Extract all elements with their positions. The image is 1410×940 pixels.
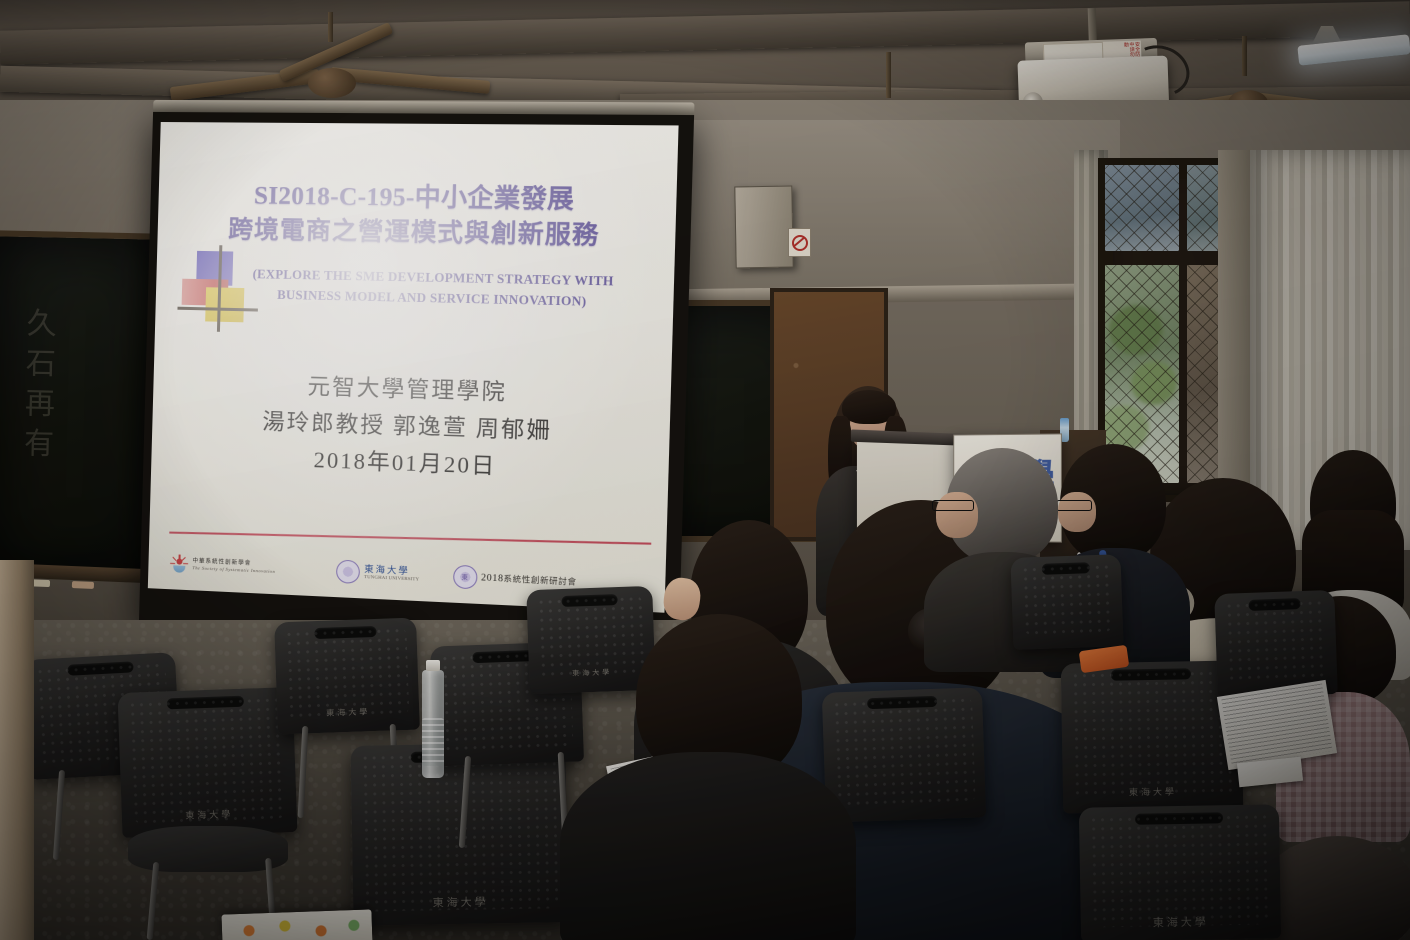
slide-surface: SI2018-C-195-中小企業發展 跨境電商之營運模式與創新服務 (EXPL… <box>148 122 679 613</box>
no-smoking-icon <box>788 228 811 257</box>
chair[interactable]: 東海大學 <box>1061 660 1244 813</box>
conference-seal-icon: 東 <box>452 564 477 589</box>
door-frame <box>0 560 34 940</box>
chair[interactable]: 東海大學 <box>274 618 420 735</box>
slide-title-line2: 跨境電商之營運模式與創新服務 <box>157 212 676 255</box>
chair[interactable] <box>1010 554 1123 650</box>
attendee-face <box>936 492 978 538</box>
chalk-writing: 久石再有 <box>13 307 60 468</box>
society-logo: 中華系統性創新學會 The Society of Systematic Inno… <box>170 554 275 577</box>
slide-divider <box>169 532 651 545</box>
university-name-en: TUNGHAI UNIVERSITY <box>364 574 419 582</box>
slide-body: 元智大學管理學院 湯玲郎教授 郭逸萱 周郁姍 2018年01月20日 <box>151 364 671 491</box>
university-seal-icon <box>336 559 360 583</box>
chair-seat <box>128 826 288 872</box>
chair[interactable]: 東海大學 <box>118 687 298 838</box>
chair-brand-text: 東海大學 <box>185 807 233 822</box>
slide-subtitle: (EXPLORE THE SME DEVELOPMENT STRATEGY WI… <box>214 263 655 313</box>
wall-speaker <box>734 186 793 269</box>
conference-year: 2018 <box>481 573 504 584</box>
chair-brand-text: 東海大學 <box>326 706 370 719</box>
bottle-cap <box>426 660 440 671</box>
lecture-hall-photo: 安全防護中請勿移動 久石再有 <box>0 0 1410 940</box>
projection-screen: SI2018-C-195-中小企業發展 跨境電商之營運模式與創新服務 (EXPL… <box>139 112 694 649</box>
chair-brand-text: 東海大學 <box>433 894 489 911</box>
conference-name: 系統性創新研討會 <box>503 574 576 587</box>
window-mesh <box>1105 165 1179 251</box>
attendee-torso <box>560 752 856 940</box>
polka-dot-item <box>221 909 372 940</box>
chair-brand-text: 東海大學 <box>1129 785 1177 799</box>
chair-brand-text: 東海大學 <box>1153 914 1209 931</box>
audience-member <box>548 614 848 940</box>
slide-title: SI2018-C-195-中小企業發展 跨境電商之營運模式與創新服務 <box>157 178 677 255</box>
sun-figure-icon <box>170 554 188 573</box>
university-logo: 東海大學 TUNGHAI UNIVERSITY <box>336 559 420 586</box>
bottle-ribs <box>422 718 444 766</box>
chair[interactable]: 東海大學 <box>1079 804 1281 940</box>
glasses <box>932 500 974 511</box>
water-bottle[interactable] <box>420 660 446 778</box>
window-pane <box>1105 165 1179 251</box>
